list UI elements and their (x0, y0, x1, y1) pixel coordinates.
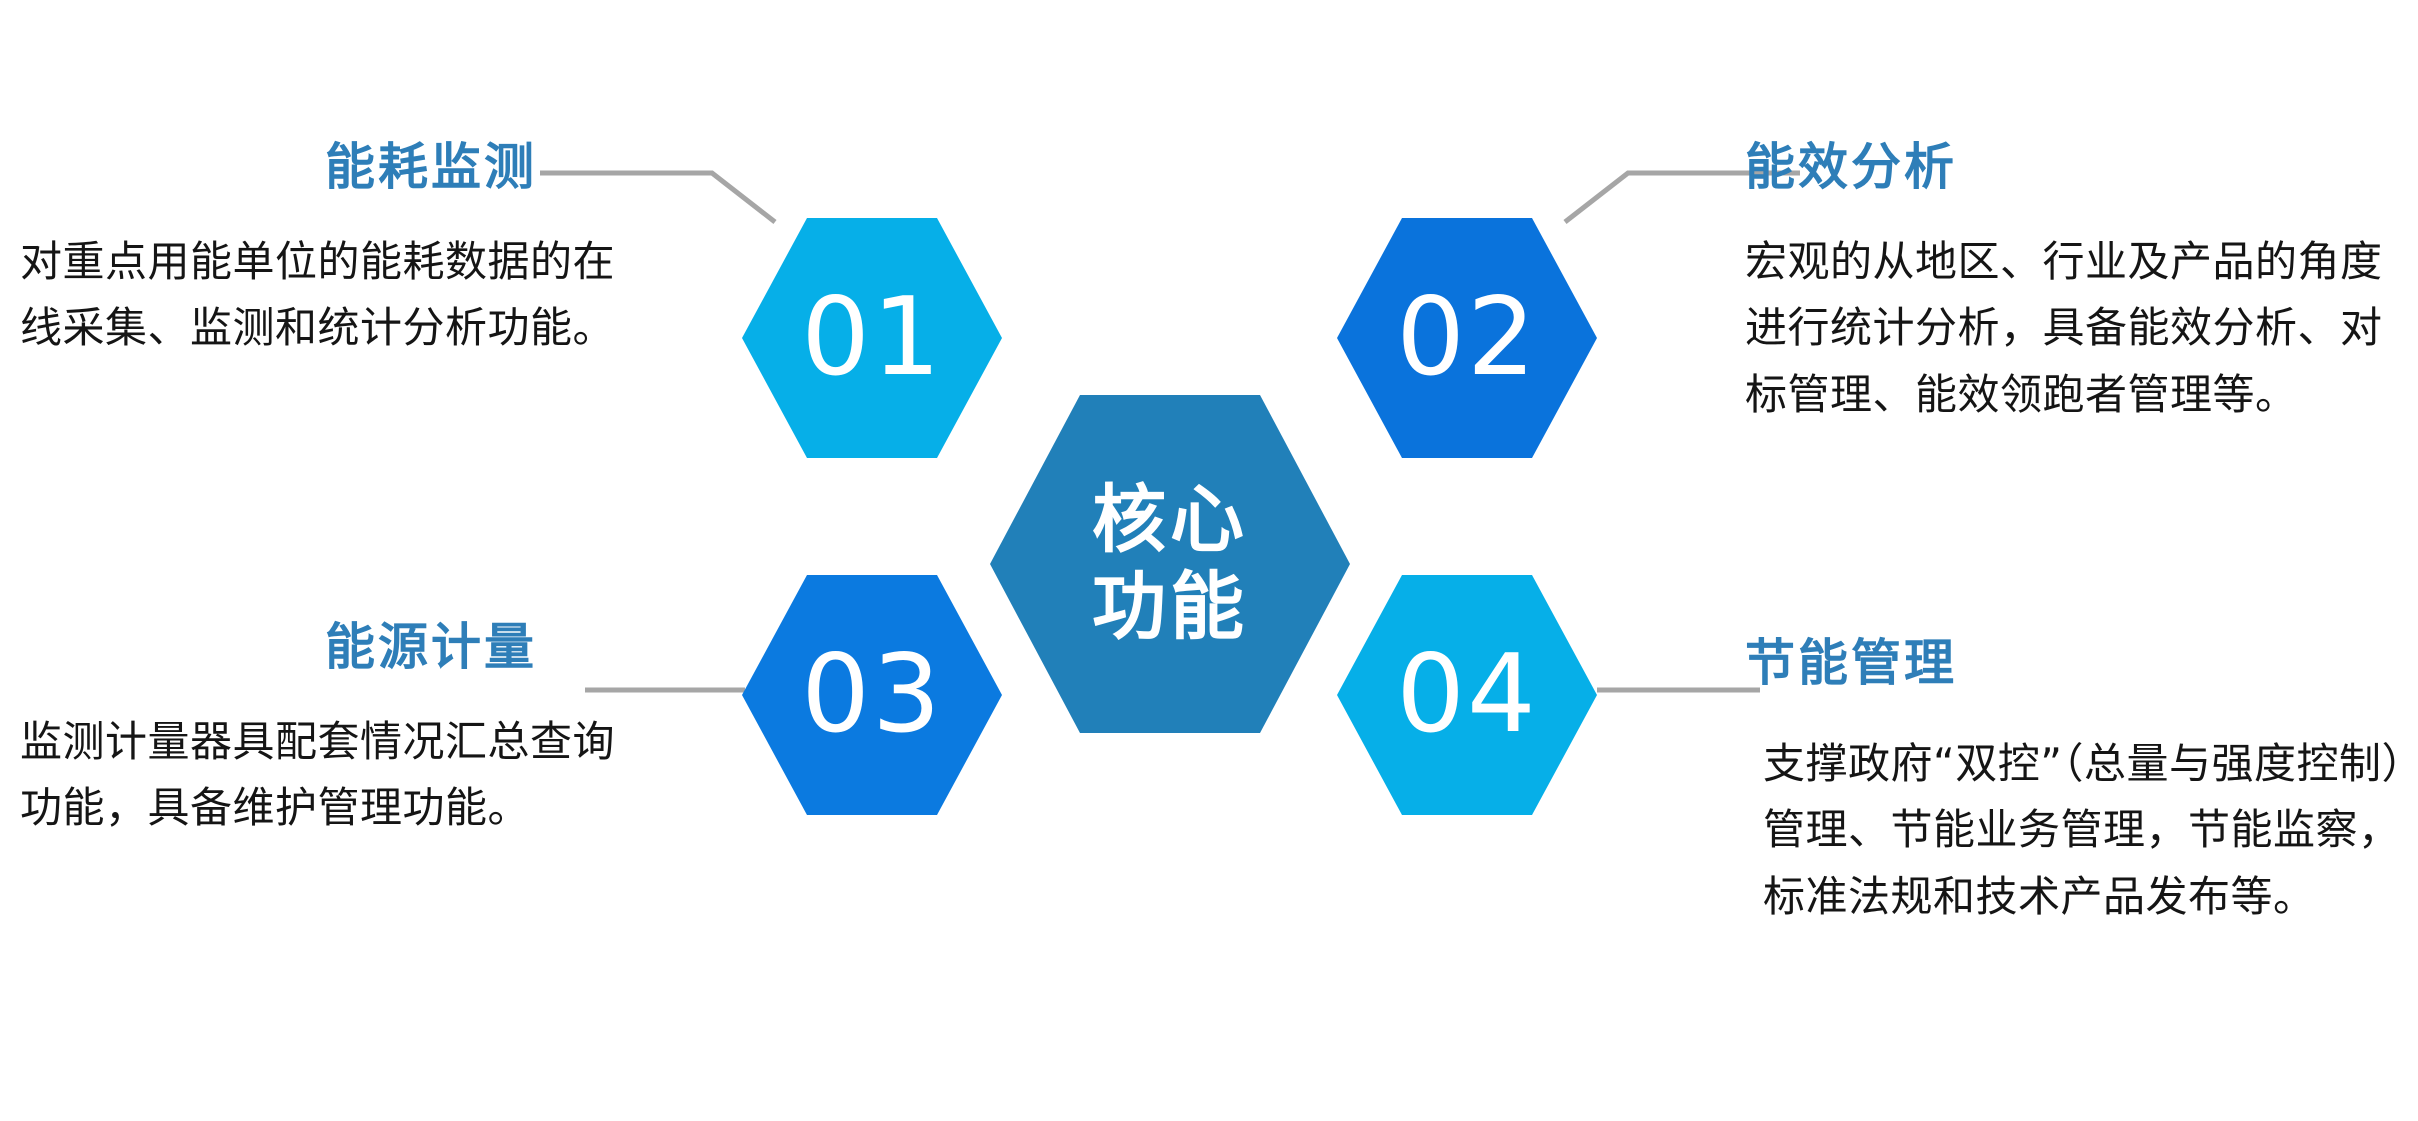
hexagon-03[interactable]: 03 (742, 575, 1002, 815)
center-label-line1: 核心 (1092, 477, 1248, 564)
hexagon-04[interactable]: 04 (1337, 575, 1597, 815)
block-bottom-left-title: 能源计量 (20, 620, 655, 675)
center-label-line2: 功能 (1092, 564, 1248, 651)
block-bottom-right-body: 支撑政府“双控”（总量与强度控制）管理、节能业务管理，节能监察，标准法规和技术产… (1763, 731, 2408, 930)
block-top-right-body: 宏观的从地区、行业及产品的角度进行统计分析，具备能效分析、对标管理、能效领跑者管… (1745, 229, 2390, 428)
center-label: 核心 功能 (1092, 477, 1248, 652)
hexagon-01[interactable]: 01 (742, 218, 1002, 458)
hexagon-center[interactable]: 核心 功能 (990, 395, 1350, 733)
block-top-left: 能耗监测 对重点用能单位的能耗数据的在线采集、监测和统计分析功能。 (20, 140, 655, 362)
hexagon-03-number: 03 (801, 641, 942, 749)
block-bottom-left: 能源计量 监测计量器具配套情况汇总查询功能，具备维护管理功能。 (20, 620, 655, 842)
block-top-right-title: 能效分析 (1745, 140, 2405, 195)
block-top-right: 能效分析 宏观的从地区、行业及产品的角度进行统计分析，具备能效分析、对标管理、能… (1745, 140, 2405, 428)
hexagon-02-number: 02 (1396, 284, 1537, 392)
hexagon-04-number: 04 (1396, 641, 1537, 749)
block-top-left-body: 对重点用能单位的能耗数据的在线采集、监测和统计分析功能。 (20, 229, 638, 362)
block-bottom-left-body: 监测计量器具配套情况汇总查询功能，具备维护管理功能。 (20, 709, 638, 842)
block-bottom-right: 节能管理 支撑政府“双控”（总量与强度控制）管理、节能业务管理，节能监察，标准法… (1745, 636, 2405, 930)
block-bottom-right-title: 节能管理 (1745, 636, 2405, 691)
block-top-left-title: 能耗监测 (20, 140, 655, 195)
hexagon-01-number: 01 (801, 284, 942, 392)
infographic-canvas: 01 02 03 04 核心 功能 能耗监测 对重点用能单位的能耗数据的在线采集… (0, 0, 2418, 1121)
hexagon-02[interactable]: 02 (1337, 218, 1597, 458)
